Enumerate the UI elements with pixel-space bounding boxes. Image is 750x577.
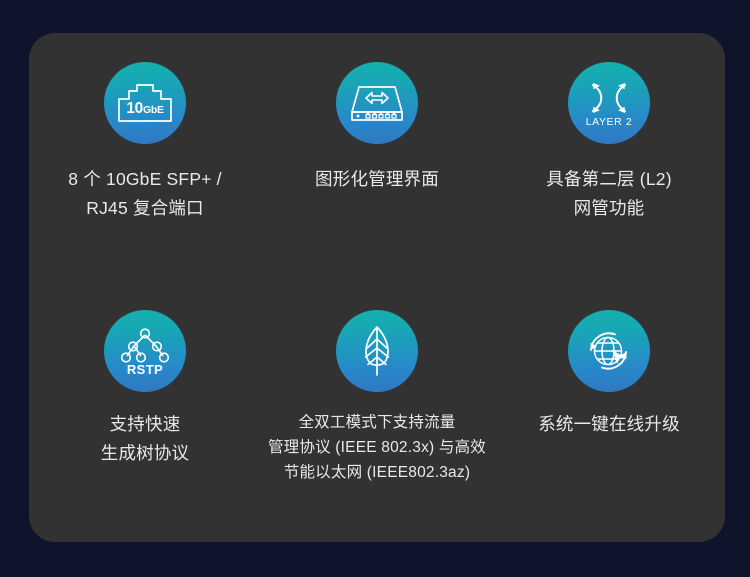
- svg-text:LAYER 2: LAYER 2: [586, 116, 633, 128]
- feature-row-1: 10GbE 8 个 10GbE SFP+ / RJ45 复合端口: [29, 33, 725, 288]
- feature-caption: 系统一键在线升级: [538, 410, 680, 439]
- network-switch-gui-icon: [336, 62, 418, 144]
- rstp-tree-icon: RSTP: [104, 310, 186, 392]
- feature-item-layer2[interactable]: LAYER 2 具备第二层 (L2) 网管功能: [493, 33, 725, 288]
- feature-item-energy-saving[interactable]: 全双工模式下支持流量 管理协议 (IEEE 802.3x) 与高效 节能以太网 …: [261, 288, 493, 543]
- feature-row-2: RSTP 支持快速 生成树协议: [29, 288, 725, 543]
- feature-panel: 10GbE 8 个 10GbE SFP+ / RJ45 复合端口: [29, 33, 725, 542]
- feature-item-gui-management[interactable]: 图形化管理界面: [261, 33, 493, 288]
- feature-caption: 具备第二层 (L2) 网管功能: [546, 165, 671, 223]
- feature-item-10gbe-ports[interactable]: 10GbE 8 个 10GbE SFP+ / RJ45 复合端口: [29, 33, 261, 288]
- feature-caption: 8 个 10GbE SFP+ / RJ45 复合端口: [68, 165, 221, 223]
- svg-text:10GbE: 10GbE: [126, 100, 164, 117]
- feature-caption: 支持快速 生成树协议: [101, 410, 190, 468]
- feature-item-online-upgrade[interactable]: 系统一键在线升级: [493, 288, 725, 543]
- globe-online-upgrade-icon: [568, 310, 650, 392]
- leaf-energy-saving-icon: [336, 310, 418, 392]
- screenshot-root: 10GbE 8 个 10GbE SFP+ / RJ45 复合端口: [0, 0, 750, 577]
- feature-caption: 全双工模式下支持流量 管理协议 (IEEE 802.3x) 与高效 节能以太网 …: [268, 410, 486, 485]
- feature-grid: 10GbE 8 个 10GbE SFP+ / RJ45 复合端口: [29, 33, 725, 542]
- svg-text:RSTP: RSTP: [127, 362, 163, 377]
- feature-caption: 图形化管理界面: [315, 165, 439, 194]
- rj45-10gbe-port-icon: 10GbE: [104, 62, 186, 144]
- layer2-crossing-arrows-icon: LAYER 2: [568, 62, 650, 144]
- feature-item-rstp[interactable]: RSTP 支持快速 生成树协议: [29, 288, 261, 543]
